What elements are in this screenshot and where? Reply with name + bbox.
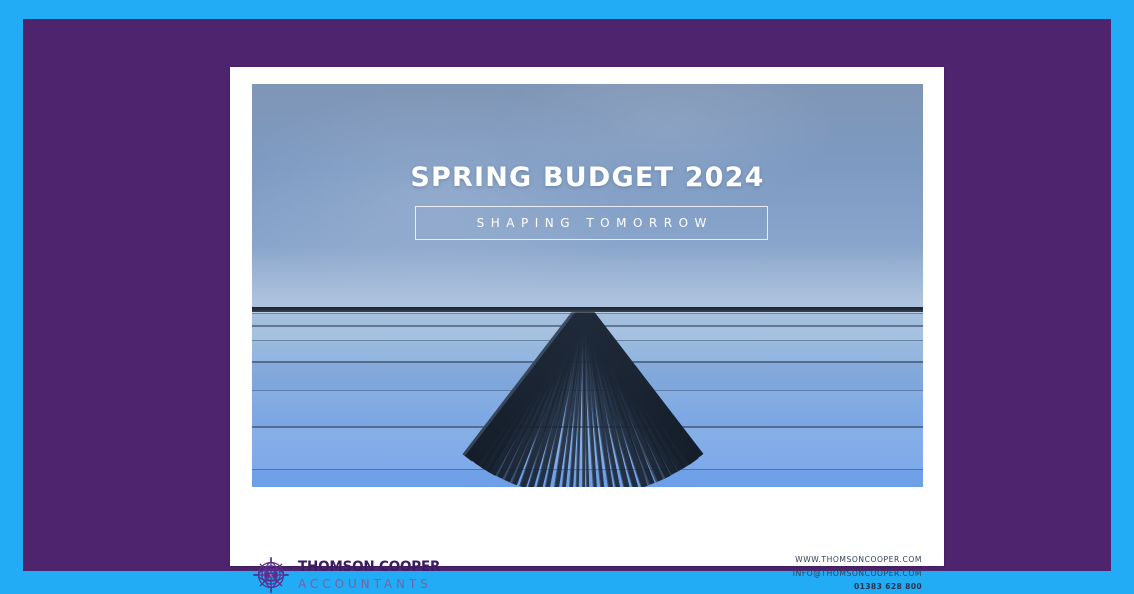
roofline-highlight: [252, 312, 923, 313]
cover-subtitle: SHAPING TOMORROW: [470, 216, 713, 230]
document-viewer: SPRING BUDGET 2024 SHAPING TOMORROW: [0, 0, 1134, 594]
thomson-cooper-globe-icon: TC: [252, 556, 290, 594]
brand-subtitle: ACCOUNTANTS: [298, 578, 445, 591]
glass-facade: [252, 307, 923, 487]
contact-phone-dunfermline[interactable]: 01383 628 800: [793, 581, 922, 593]
viewer-stage: SPRING BUDGET 2024 SHAPING TOMORROW: [23, 19, 1111, 571]
brand-name: THOMSON COOPER: [298, 560, 440, 575]
cover-subtitle-box: SHAPING TOMORROW: [415, 206, 768, 240]
sky-background: [252, 84, 923, 308]
brand-logo[interactable]: TC THOMSON COOPER ACCOUNTANTS: [252, 556, 451, 594]
document-page[interactable]: SPRING BUDGET 2024 SHAPING TOMORROW: [230, 67, 944, 566]
contact-email[interactable]: INFO@THOMSONCOOPER.COM: [793, 567, 922, 581]
brand-wordmark: THOMSON COOPER ACCOUNTANTS: [298, 560, 451, 590]
contact-details: WWW.THOMSONCOOPER.COM INFO@THOMSONCOOPER…: [793, 553, 922, 594]
document-footer: TC THOMSON COOPER ACCOUNTANTS WWW.THOMSO…: [230, 487, 944, 566]
contact-website[interactable]: WWW.THOMSONCOOPER.COM: [793, 553, 922, 567]
cover-title: SPRING BUDGET 2024: [252, 162, 923, 193]
cover-photo: SPRING BUDGET 2024 SHAPING TOMORROW: [252, 84, 923, 487]
